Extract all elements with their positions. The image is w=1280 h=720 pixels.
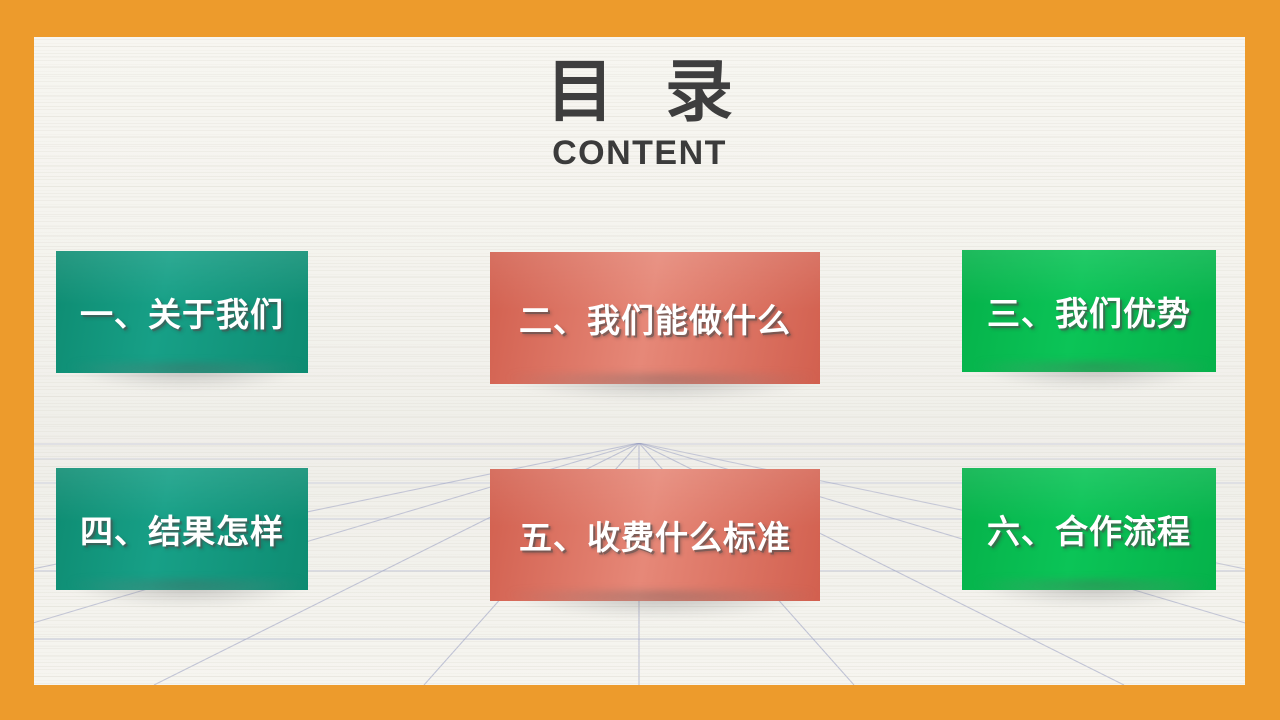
slide-title-block: 目 录 CONTENT <box>34 57 1245 173</box>
agenda-item-2[interactable]: 二、我们能做什么 <box>490 252 820 384</box>
agenda-item-5-label: 五、收费什么标准 <box>519 511 791 559</box>
agenda-item-1-inner: 一、关于我们 <box>56 251 308 373</box>
slide-content-area: 目 录 CONTENT 一、关于我们 二、我们能做什么 三、我们优势 <box>34 37 1245 685</box>
agenda-item-3-label: 三、我们优势 <box>987 287 1191 335</box>
agenda-item-2-inner: 二、我们能做什么 <box>490 252 820 384</box>
agenda-item-3-inner: 三、我们优势 <box>962 250 1216 372</box>
agenda-item-5[interactable]: 五、收费什么标准 <box>490 469 820 601</box>
agenda-item-5-inner: 五、收费什么标准 <box>490 469 820 601</box>
agenda-item-6[interactable]: 六、合作流程 <box>962 468 1216 590</box>
page-title: 目 录 <box>34 57 1245 128</box>
agenda-item-6-inner: 六、合作流程 <box>962 468 1216 590</box>
presentation-slide: 目 录 CONTENT 一、关于我们 二、我们能做什么 三、我们优势 <box>0 0 1280 720</box>
agenda-item-1-label: 一、关于我们 <box>80 288 284 336</box>
agenda-item-2-label: 二、我们能做什么 <box>519 294 791 342</box>
agenda-item-6-label: 六、合作流程 <box>987 505 1191 553</box>
agenda-item-4-inner: 四、结果怎样 <box>56 468 308 590</box>
agenda-item-1[interactable]: 一、关于我们 <box>56 251 308 373</box>
agenda-item-3[interactable]: 三、我们优势 <box>962 250 1216 372</box>
agenda-item-4-label: 四、结果怎样 <box>80 505 284 553</box>
page-subtitle: CONTENT <box>34 134 1245 173</box>
agenda-item-4[interactable]: 四、结果怎样 <box>56 468 308 590</box>
